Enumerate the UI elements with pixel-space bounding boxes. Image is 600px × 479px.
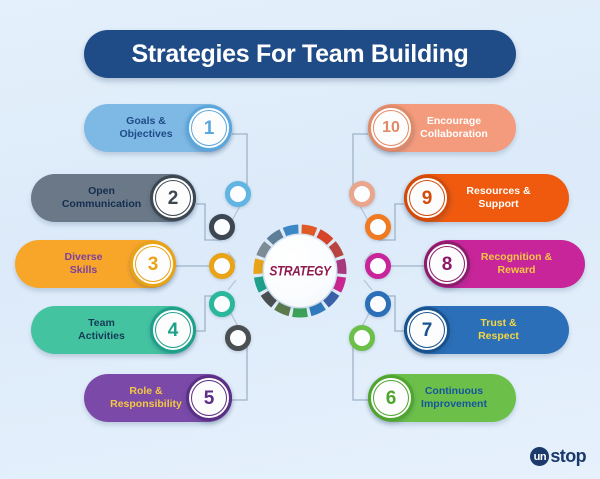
strategy-item-1[interactable]: Goals & Objectives1 (84, 104, 232, 152)
strategy-item-7[interactable]: Trust & Respect7 (404, 306, 569, 354)
strategy-item-badge: 1 (186, 105, 232, 151)
strategy-item-badge: 3 (130, 241, 176, 287)
strategy-item-label: Trust & Respect (478, 317, 519, 343)
connector-dot-1 (225, 181, 251, 207)
strategy-item-6[interactable]: Continuous Improvement6 (368, 374, 516, 422)
strategy-item-label: Role & Responsibility (110, 385, 182, 411)
strategy-item-badge-inner: 6 (373, 380, 409, 416)
unstop-logo-text: stop (550, 446, 586, 467)
connector-dot-6 (349, 325, 375, 351)
strategy-item-4[interactable]: Team Activities4 (31, 306, 196, 354)
strategy-item-badge: 10 (368, 105, 414, 151)
strategy-item-badge: 5 (186, 375, 232, 421)
hub-label: STRATEGY (269, 263, 330, 280)
page-title-bar: Strategies For Team Building (84, 30, 516, 78)
strategy-item-label: Team Activities (78, 317, 125, 343)
strategy-item-number: 6 (386, 389, 397, 408)
unstop-logo: un stop (530, 446, 586, 467)
strategy-item-number: 10 (382, 120, 400, 136)
strategy-item-badge: 4 (150, 307, 196, 353)
strategy-item-2[interactable]: Open Communication2 (31, 174, 196, 222)
strategy-item-9[interactable]: Resources & Support9 (404, 174, 569, 222)
strategy-item-10[interactable]: Encourage Collaboration10 (368, 104, 516, 152)
strategy-item-badge-inner: 8 (429, 246, 465, 282)
strategy-item-label: Goals & Objectives (119, 115, 172, 141)
strategy-item-number: 2 (168, 189, 179, 208)
strategy-item-badge: 8 (424, 241, 470, 287)
strategy-item-badge: 9 (404, 175, 450, 221)
connector-dot-5 (225, 325, 251, 351)
strategy-item-number: 9 (422, 189, 433, 208)
strategy-item-badge-inner: 5 (191, 380, 227, 416)
strategy-item-badge-inner: 1 (191, 110, 227, 146)
strategy-item-number: 3 (148, 255, 159, 274)
strategy-item-number: 8 (442, 255, 453, 274)
connector-dot-4 (209, 291, 235, 317)
connector-dot-10 (349, 181, 375, 207)
connector-dot-9 (365, 214, 391, 240)
strategy-item-number: 7 (422, 321, 433, 340)
strategy-item-badge-inner: 10 (373, 110, 409, 146)
strategy-item-label: Encourage Collaboration (420, 115, 488, 141)
strategy-item-badge-inner: 4 (155, 312, 191, 348)
strategy-item-badge-inner: 3 (135, 246, 171, 282)
strategy-item-number: 5 (204, 389, 215, 408)
strategy-item-number: 1 (204, 119, 215, 138)
unstop-logo-mark: un (530, 447, 549, 466)
connector-dot-7 (365, 291, 391, 317)
strategy-item-badge: 7 (404, 307, 450, 353)
connector-dot-2 (209, 214, 235, 240)
connector-dot-8 (365, 253, 391, 279)
strategy-item-label: Open Communication (62, 185, 141, 211)
strategy-item-badge: 2 (150, 175, 196, 221)
strategy-item-badge-inner: 7 (409, 312, 445, 348)
strategy-item-badge-inner: 2 (155, 180, 191, 216)
strategy-item-3[interactable]: Diverse Skills3 (15, 240, 176, 288)
strategy-item-label: Recognition & Reward (481, 251, 552, 277)
connector-dot-3 (209, 253, 235, 279)
infographic-canvas: Strategies For Team Building (0, 0, 600, 479)
strategy-item-badge-inner: 9 (409, 180, 445, 216)
strategy-item-number: 4 (168, 321, 179, 340)
strategy-item-label: Diverse Skills (65, 251, 103, 277)
strategy-item-label: Resources & Support (466, 185, 530, 211)
page-title: Strategies For Team Building (131, 40, 468, 69)
hub-core: STRATEGY (264, 235, 336, 307)
strategy-item-badge: 6 (368, 375, 414, 421)
center-hub: STRATEGY (253, 224, 347, 318)
strategy-item-label: Continuous Improvement (421, 385, 487, 411)
strategy-item-5[interactable]: Role & Responsibility5 (84, 374, 232, 422)
strategy-item-8[interactable]: Recognition & Reward8 (424, 240, 585, 288)
